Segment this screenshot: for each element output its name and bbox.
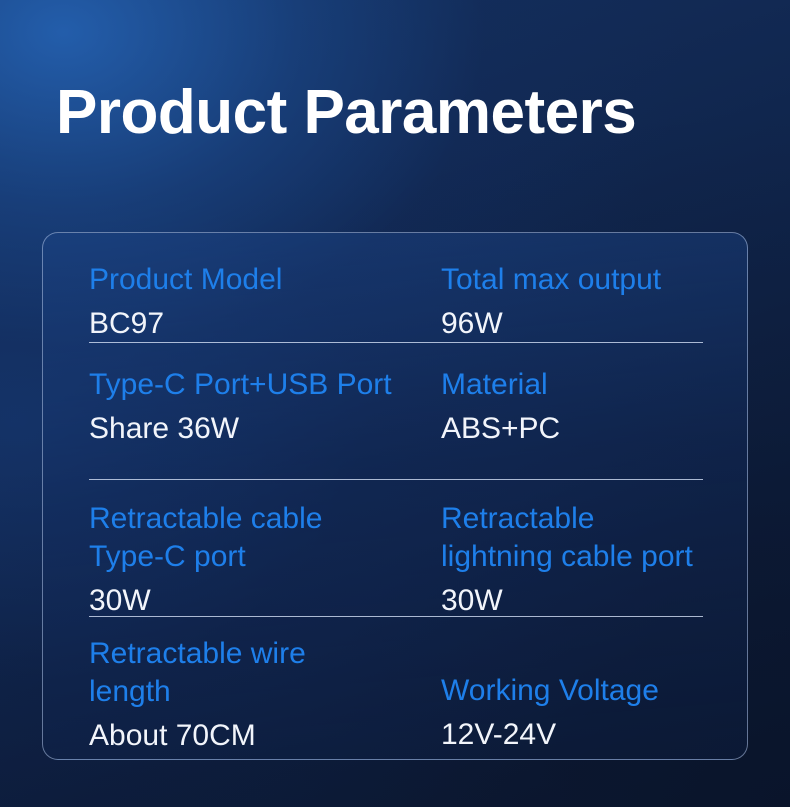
parameter-label: Product Model (89, 261, 441, 299)
page-title: Product Parameters (56, 82, 746, 144)
parameter-cell: Retractable wire length About 70CM (89, 635, 441, 761)
parameter-label: Retractable wire length (89, 635, 441, 711)
parameter-value: About 70CM (89, 717, 441, 755)
product-parameters-page: Product Parameters Product Model BC97 To… (0, 0, 790, 807)
parameter-label: Material (441, 366, 703, 404)
parameter-cell: Type-C Port+USB Port Share 36W (89, 366, 441, 479)
parameter-value: 30W (89, 582, 441, 620)
parameters-table: Product Model BC97 Total max output 96W … (89, 233, 703, 759)
parameter-value: Share 36W (89, 410, 441, 448)
parameter-label: Retractable cable Type-C port (89, 500, 441, 576)
parameter-cell: Retractable cable Type-C port 30W (89, 500, 441, 616)
parameter-value: BC97 (89, 305, 441, 343)
parameter-label: Working Voltage (441, 672, 703, 710)
parameter-cell: Product Model BC97 (89, 261, 441, 342)
parameter-cell: Total max output 96W (441, 261, 703, 342)
parameter-label: Retractable lightning cable port (441, 500, 703, 576)
parameter-label: Type-C Port+USB Port (89, 366, 441, 404)
table-row: Retractable wire length About 70CM Worki… (89, 617, 703, 761)
parameter-value: ABS+PC (441, 410, 703, 448)
parameter-cell: Material ABS+PC (441, 366, 703, 479)
table-row: Type-C Port+USB Port Share 36W Material … (89, 343, 703, 480)
table-row: Retractable cable Type-C port 30W Retrac… (89, 480, 703, 617)
parameter-cell: Working Voltage 12V-24V (441, 635, 703, 761)
parameter-cell: Retractable lightning cable port 30W (441, 500, 703, 616)
parameter-label: Total max output (441, 261, 703, 299)
parameter-value: 12V-24V (441, 716, 703, 754)
parameters-card: Product Model BC97 Total max output 96W … (42, 232, 748, 760)
parameter-value: 96W (441, 305, 703, 343)
parameter-value: 30W (441, 582, 703, 620)
table-row: Product Model BC97 Total max output 96W (89, 233, 703, 343)
